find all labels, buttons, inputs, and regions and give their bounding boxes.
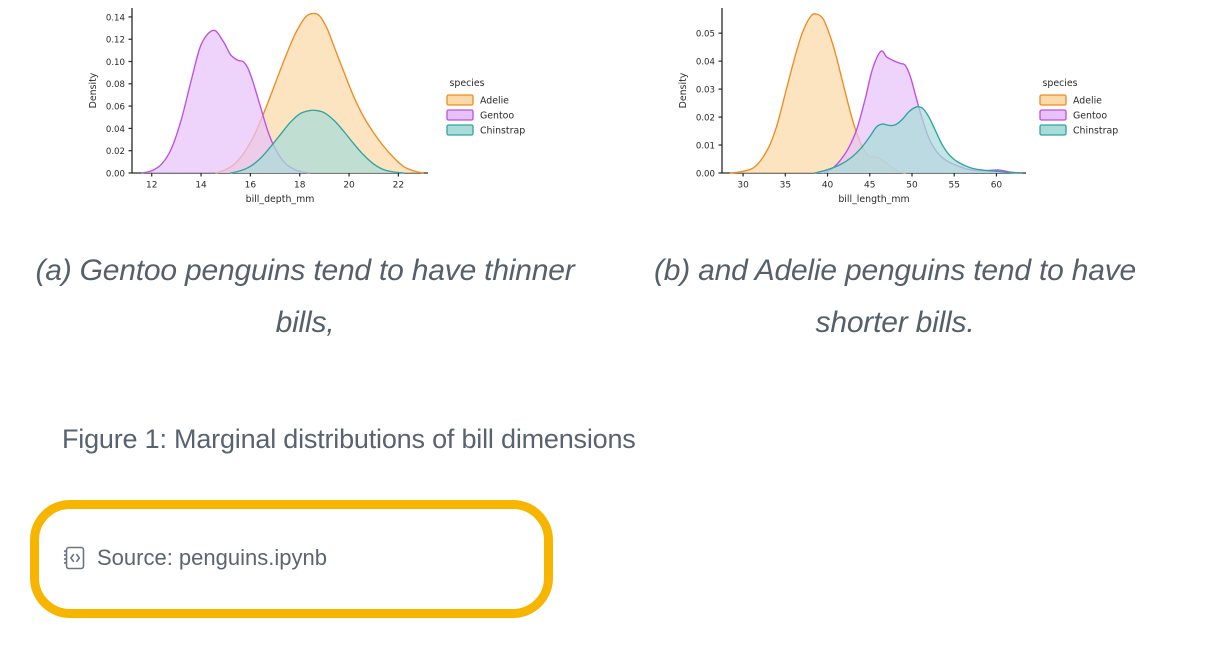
legend-label-adelie: Adelie [1073, 96, 1102, 107]
x-tick-label: 60 [991, 181, 1003, 191]
y-tick-label: 0.04 [696, 58, 715, 68]
x-tick-label: 30 [737, 181, 749, 191]
legend-label-adelie: Adelie [480, 96, 509, 107]
y-tick-label: 0.05 [696, 30, 715, 40]
legend-swatch-adelie [1040, 95, 1066, 105]
y-tick-label: 0.00 [696, 169, 715, 179]
notebook-code-icon [62, 545, 86, 571]
y-tick-label: 0.00 [106, 169, 125, 179]
x-axis-label: bill_depth_mm [246, 194, 315, 205]
source-link-label: Source: penguins.ipynb [97, 545, 327, 571]
figure-caption: Figure 1: Marginal distributions of bill… [62, 424, 636, 455]
y-tick-label: 0.06 [106, 103, 125, 113]
x-tick-label: 16 [245, 181, 257, 191]
legend-swatch-gentoo [447, 110, 473, 120]
bill-length-kde-chart: 0.000.010.020.030.040.0530354045505560bi… [600, 0, 1190, 215]
y-tick-label: 0.03 [696, 86, 715, 96]
y-tick-label: 0.08 [106, 80, 125, 90]
x-tick-label: 20 [343, 181, 355, 191]
y-tick-label: 0.02 [106, 147, 125, 157]
legend-swatch-gentoo [1040, 110, 1066, 120]
legend-label-chinstrap: Chinstrap [1073, 126, 1118, 137]
subfigure-a: 0.000.020.040.060.080.100.120.1412141618… [10, 0, 600, 360]
legend-swatch-chinstrap [1040, 125, 1066, 135]
legend-swatch-chinstrap [447, 125, 473, 135]
x-tick-label: 40 [822, 181, 834, 191]
legend-title: species [449, 78, 484, 89]
legend-swatch-adelie [447, 95, 473, 105]
y-tick-label: 0.01 [696, 141, 715, 151]
figure-row: 0.000.020.040.060.080.100.120.1412141618… [0, 0, 1215, 360]
plot-bill-length: 0.000.010.020.030.040.0530354045505560bi… [600, 0, 1190, 215]
x-tick-label: 14 [195, 181, 207, 191]
bill-depth-kde-chart: 0.000.020.040.060.080.100.120.1412141618… [10, 0, 600, 215]
x-tick-label: 18 [294, 181, 306, 191]
legend-label-gentoo: Gentoo [1073, 111, 1107, 122]
x-tick-label: 12 [146, 181, 157, 191]
x-tick-label: 45 [864, 181, 875, 191]
legend-label-gentoo: Gentoo [480, 111, 514, 122]
subfigure-a-caption: (a) Gentoo penguins tend to have thinner… [25, 245, 585, 349]
x-axis-label: bill_length_mm [838, 194, 909, 205]
x-tick-label: 22 [393, 181, 404, 191]
legend-title: species [1042, 78, 1077, 89]
subfigure-b-caption: (b) and Adelie penguins tend to have sho… [615, 245, 1175, 349]
y-tick-label: 0.14 [106, 13, 125, 23]
plot-bill-depth: 0.000.020.040.060.080.100.120.1412141618… [10, 0, 600, 215]
y-axis-label: Density [88, 72, 99, 108]
y-tick-label: 0.02 [696, 113, 715, 123]
subfigure-b: 0.000.010.020.030.040.0530354045505560bi… [600, 0, 1190, 360]
legend-label-chinstrap: Chinstrap [480, 126, 525, 137]
y-tick-label: 0.10 [106, 58, 125, 68]
x-tick-label: 35 [780, 181, 791, 191]
y-tick-label: 0.12 [106, 36, 125, 46]
x-tick-label: 50 [906, 181, 918, 191]
y-tick-label: 0.04 [106, 125, 125, 135]
source-link[interactable]: Source: penguins.ipynb [62, 545, 327, 571]
y-axis-label: Density [678, 72, 689, 108]
x-tick-label: 55 [948, 181, 959, 191]
